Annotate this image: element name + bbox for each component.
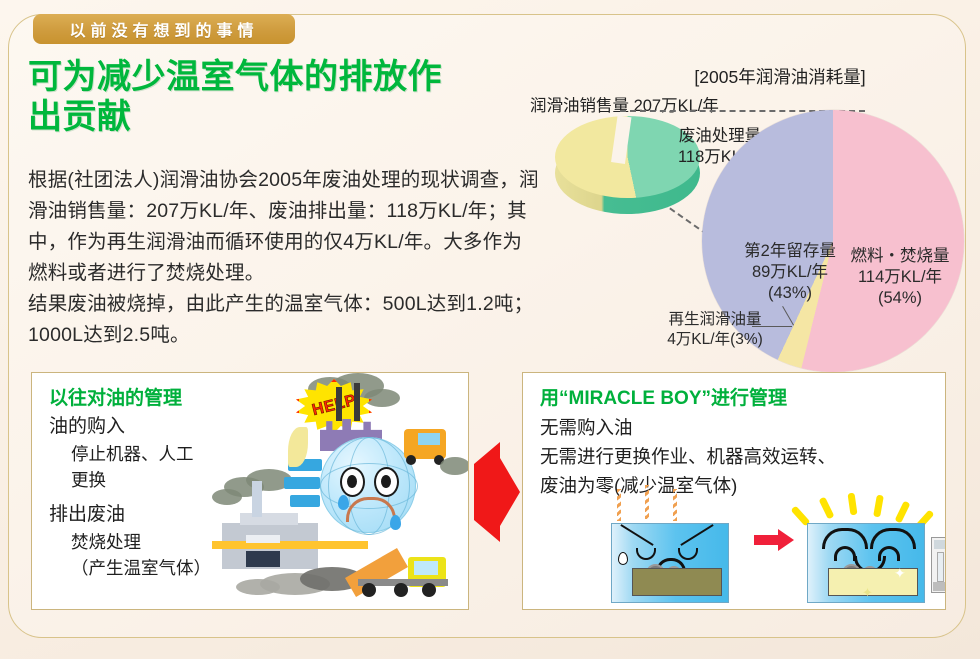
heat-squiggle bbox=[617, 489, 621, 521]
poster-page: 以前没有想到的事情 可为减少温室气体的排放作 出贡献 根据(社团法人)润滑油协会… bbox=[0, 0, 980, 659]
panel-old-method-body: 油的购入 停止机器、人工 更换 排出废油 焚烧处理 （产生温室气体） bbox=[49, 413, 211, 581]
tear-drop bbox=[390, 515, 401, 530]
illustration-machine-comparison: ✦ ✦ bbox=[611, 501, 941, 607]
new-line-no-purchase: 无需购入油 bbox=[540, 413, 836, 442]
slice-label-fuel-percent: (54%) bbox=[830, 288, 970, 309]
body-paragraph-1: 根据(社团法人)润滑油协会2005年废油处理的现状调查，润滑油销售量：207万K… bbox=[28, 165, 540, 289]
happy-eye-left bbox=[834, 546, 856, 561]
slice-label-recycled-name: 再生润滑油量 bbox=[635, 310, 795, 330]
slice-label-recycled-value: 4万KL/年(3%) bbox=[635, 330, 795, 350]
sad-earth-icon bbox=[320, 437, 416, 533]
panel-old-method: 以往对油的管理 油的购入 停止机器、人工 更换 排出废油 焚烧处理 （产生温室气… bbox=[31, 372, 469, 610]
sad-brow-left bbox=[620, 524, 653, 546]
chart-total-label: 润滑油销售量 207万KL/年 bbox=[530, 92, 719, 116]
arrow-small-shape bbox=[754, 529, 794, 551]
vehicle-wheel bbox=[406, 455, 416, 465]
truck-wheel bbox=[362, 583, 376, 597]
machine-before bbox=[611, 523, 729, 603]
truck-window bbox=[414, 561, 438, 575]
illustration-polluting-factory: HELP bbox=[212, 373, 468, 609]
eye-right bbox=[374, 467, 399, 497]
arrow-small-svg bbox=[754, 529, 794, 551]
vehicle-window bbox=[418, 433, 440, 445]
spacer bbox=[49, 493, 211, 501]
sad-brow-right bbox=[680, 524, 713, 546]
panel-new-method-title: 用“MIRACLE BOY”进行管理 bbox=[540, 383, 787, 410]
section-tab: 以前没有想到的事情 bbox=[33, 14, 295, 44]
shine-ray bbox=[819, 497, 835, 520]
factory-chimney bbox=[252, 481, 262, 517]
old-line-waste: 排出废油 bbox=[49, 501, 211, 529]
shine-ray bbox=[895, 501, 911, 524]
pupil bbox=[381, 475, 391, 488]
body-text: 根据(社团法人)润滑油协会2005年废油处理的现状调查，润滑油销售量：207万K… bbox=[28, 165, 540, 351]
dirty-oil-tank bbox=[632, 568, 722, 596]
factory-door bbox=[246, 551, 280, 567]
chimney bbox=[354, 383, 360, 421]
slice-label-fuel-name: 燃料・焚烧量 bbox=[830, 246, 970, 267]
help-badge: HELP bbox=[296, 379, 372, 433]
old-line-purchase: 油的购入 bbox=[49, 413, 211, 441]
arrow-shape bbox=[474, 442, 520, 542]
old-sub-replace: 更换 bbox=[49, 467, 211, 493]
heat-squiggle bbox=[673, 489, 677, 521]
new-line-zero-waste: 废油为零(减少温室气体) bbox=[540, 471, 836, 500]
machine-after: ✦ ✦ bbox=[807, 523, 925, 603]
slice-label-recycled: 再生润滑油量 4万KL/年(3%) bbox=[635, 310, 795, 350]
exhaust-smoke bbox=[440, 457, 469, 475]
body-paragraph-2: 结果废油被烧掉，由此产生的温室气体：500L达到1.2吨；1000L达到2.5吨… bbox=[28, 289, 540, 351]
factory-roof bbox=[240, 513, 298, 525]
device-display bbox=[934, 540, 945, 549]
transition-arrow-icon bbox=[470, 438, 522, 546]
pipeline-bar bbox=[212, 541, 368, 549]
shine-ray bbox=[873, 495, 884, 518]
smoke-cloud bbox=[212, 489, 242, 505]
page-title-line1: 可为减少温室气体的排放作 bbox=[28, 57, 508, 97]
truck-wheel bbox=[394, 583, 408, 597]
machine-tear bbox=[618, 552, 628, 565]
sad-eye-right bbox=[678, 548, 698, 560]
chimney bbox=[336, 387, 342, 421]
factory-window bbox=[246, 535, 280, 543]
heat-squiggle bbox=[645, 485, 649, 519]
arrow-right-small-icon bbox=[754, 529, 794, 551]
miracle-boy-device bbox=[931, 537, 946, 593]
new-line-no-replacement: 无需进行更换作业、机器高效运转、 bbox=[540, 442, 836, 471]
water-stripe bbox=[290, 495, 320, 507]
page-title-line2: 出贡献 bbox=[28, 97, 508, 137]
old-sub-ghg: （产生温室气体） bbox=[49, 555, 211, 581]
eye-left bbox=[340, 467, 365, 497]
sparkle-icon: ✦ bbox=[894, 566, 906, 580]
tear-drop bbox=[338, 495, 349, 510]
sparkle-icon: ✦ bbox=[862, 586, 873, 599]
device-tube bbox=[937, 552, 944, 582]
slice-label-fuel-value: 114万KL/年 bbox=[830, 267, 970, 288]
page-title: 可为减少温室气体的排放作 出贡献 bbox=[28, 57, 508, 137]
waste-pile bbox=[236, 579, 280, 595]
chart-title: [2005年润滑油消耗量] bbox=[640, 64, 920, 89]
panel-new-method: 用“MIRACLE BOY”进行管理 无需购入油 无需进行更换作业、机器高效运转… bbox=[522, 372, 946, 610]
slice-label-fuel: 燃料・焚烧量 114万KL/年 (54%) bbox=[830, 246, 970, 309]
water-stripe bbox=[284, 477, 320, 489]
truck-wheel bbox=[422, 583, 436, 597]
device-base bbox=[933, 582, 946, 591]
panel-old-method-title: 以往对油的管理 bbox=[49, 383, 182, 410]
old-sub-stop-machine: 停止机器、人工 bbox=[49, 441, 211, 467]
old-sub-incinerate: 焚烧处理 bbox=[49, 529, 211, 555]
shine-ray bbox=[848, 493, 858, 516]
section-tab-label: 以前没有想到的事情 bbox=[69, 17, 258, 41]
pie-chart: [2005年润滑油消耗量] 润滑油销售量 207万KL/年 废油处理量 118万… bbox=[530, 58, 970, 358]
pupil bbox=[347, 475, 357, 488]
sad-eye-left bbox=[636, 548, 656, 560]
arrow-right-svg bbox=[470, 438, 522, 546]
slice-leader-line bbox=[752, 326, 792, 327]
panel-new-method-body: 无需购入油 无需进行更换作业、机器高效运转、 废油为零(减少温室气体) bbox=[540, 413, 836, 500]
